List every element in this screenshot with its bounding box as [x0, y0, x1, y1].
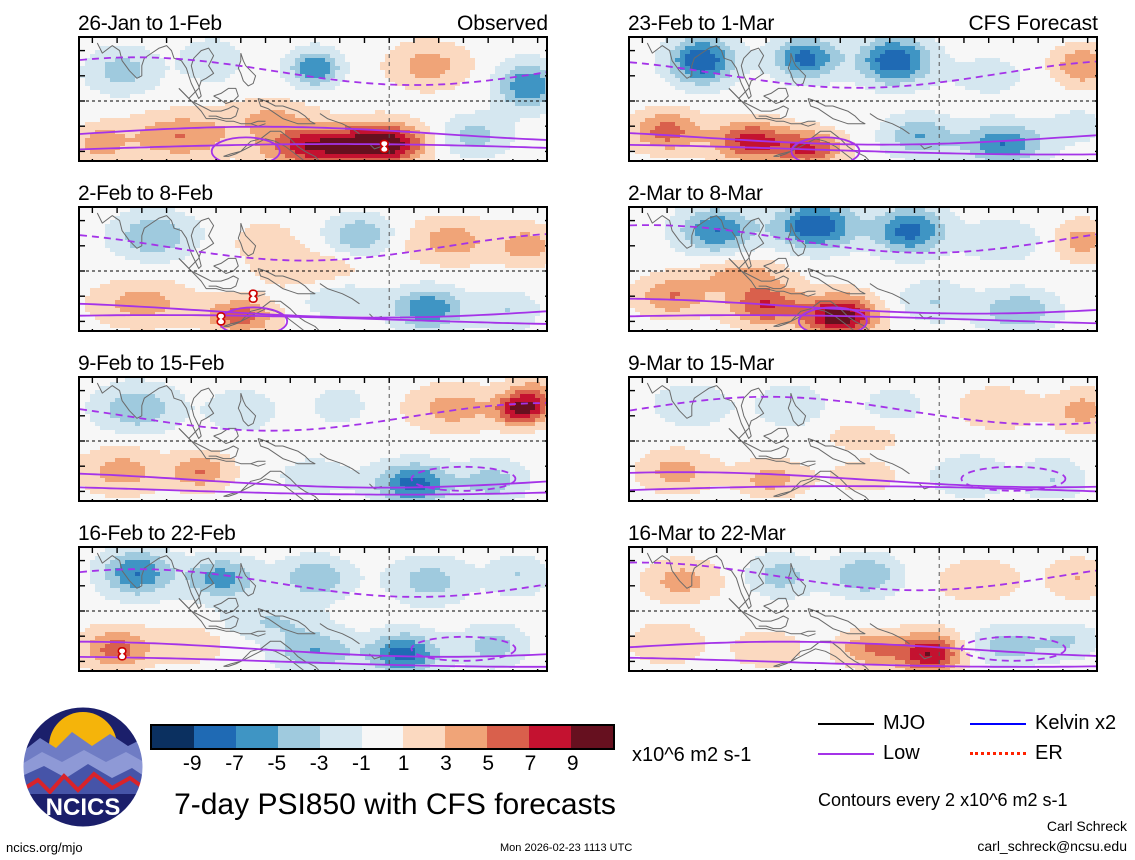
colorbar-ticks: -9-7-5-3-113579 [150, 752, 615, 776]
colorbar-units: x10^6 m2 s-1 [632, 744, 751, 767]
column-header: CFS Forecast [968, 12, 1098, 36]
legend-item-kelvin-x2: Kelvin x2 [970, 712, 1116, 735]
colorbar-swatch [403, 726, 445, 748]
colorbar-tick-label: -3 [310, 752, 329, 776]
map-plot-area [628, 36, 1098, 162]
map-plot-area: 20N10N010S20S [78, 206, 548, 332]
colorbar-tick-label: 1 [398, 752, 410, 776]
legend-label: ER [1035, 742, 1063, 765]
map-plot-area: 20N10N010S20S [78, 36, 548, 162]
map-panel-8: 16-Mar to 22-Mar60E120E180120V [628, 524, 1098, 672]
colorbar [150, 724, 615, 750]
map-plot-area: 20N10N010S20S [78, 376, 548, 502]
map-panel-5: 23-Feb to 1-MarCFS Forecast [628, 14, 1098, 162]
colorbar-tick-label: 5 [482, 752, 494, 776]
map-plot-area [628, 206, 1098, 332]
line-legend: MJOLowKelvin x2ER [818, 712, 1118, 772]
panel-title: 16-Feb to 22-Feb [78, 522, 235, 546]
colorbar-swatch [487, 726, 529, 748]
colorbar-tick-label: 9 [567, 752, 579, 776]
colorbar-swatch [320, 726, 362, 748]
author-name: Carl Schreck [1047, 818, 1127, 834]
map-panel-1: 26-Jan to 1-FebObserved20N10N010S20S [78, 14, 548, 162]
panel-title: 23-Feb to 1-Mar [628, 12, 774, 36]
panel-grid: 26-Jan to 1-FebObserved20N10N010S20S2-Fe… [0, 0, 1135, 690]
colorbar-swatch [236, 726, 278, 748]
legend-line-swatch [970, 723, 1026, 725]
map-panel-3: 9-Feb to 15-Feb20N10N010S20S [78, 354, 548, 502]
panel-title: 2-Mar to 8-Mar [628, 182, 763, 206]
panel-title: 26-Jan to 1-Feb [78, 12, 222, 36]
colorbar-tick-label: 7 [525, 752, 537, 776]
colorbar-swatch [445, 726, 487, 748]
colorbar-swatch [571, 726, 613, 748]
legend-line-swatch [970, 752, 1026, 755]
map-panel-6: 2-Mar to 8-Mar [628, 184, 1098, 332]
panel-title: 9-Mar to 15-Mar [628, 352, 774, 376]
colorbar-swatch [152, 726, 194, 748]
panel-title: 9-Feb to 15-Feb [78, 352, 224, 376]
legend-item-low: Low [818, 742, 920, 765]
legend-label: Low [883, 742, 920, 765]
site-url[interactable]: ncics.org/mjo [6, 840, 83, 855]
colorbar-swatch [278, 726, 320, 748]
legend-label: Kelvin x2 [1035, 712, 1116, 735]
legend-label: MJO [883, 712, 925, 735]
map-panel-7: 9-Mar to 15-Mar [628, 354, 1098, 502]
legend-item-er: ER [970, 742, 1063, 765]
colorbar-tick-label: -9 [183, 752, 202, 776]
timestamp: Mon 2026-02-23 1113 UTC [500, 842, 632, 854]
colorbar-swatch [529, 726, 571, 748]
panel-title: 2-Feb to 8-Feb [78, 182, 213, 206]
author-email[interactable]: carl_schreck@ncsu.edu [977, 838, 1127, 854]
colorbar-tick-label: -1 [352, 752, 371, 776]
main-title: 7-day PSI850 with CFS forecasts [160, 788, 630, 822]
ncics-logo: NCICS [22, 706, 144, 828]
map-plot-area [628, 376, 1098, 502]
colorbar-tick-label: -7 [225, 752, 244, 776]
colorbar-swatch [362, 726, 404, 748]
contour-note: Contours every 2 x10^6 m2 s-1 [818, 790, 1068, 811]
panel-title: 16-Mar to 22-Mar [628, 522, 785, 546]
legend-item-mjo: MJO [818, 712, 925, 735]
map-plot-area: 60E120E180120V [628, 546, 1098, 672]
colorbar-tick-label: -5 [267, 752, 286, 776]
colorbar-swatch [194, 726, 236, 748]
map-panel-2: 2-Feb to 8-Feb20N10N010S20S [78, 184, 548, 332]
legend-line-swatch [818, 723, 874, 725]
column-header: Observed [457, 12, 548, 36]
map-panel-4: 16-Feb to 22-Feb20N10N010S20S60E120E1801… [78, 524, 548, 672]
map-plot-area: 20N10N010S20S60E120E180120W [78, 546, 548, 672]
colorbar-tick-label: 3 [440, 752, 452, 776]
legend-line-swatch [818, 753, 874, 755]
logo-text: NCICS [46, 794, 121, 821]
